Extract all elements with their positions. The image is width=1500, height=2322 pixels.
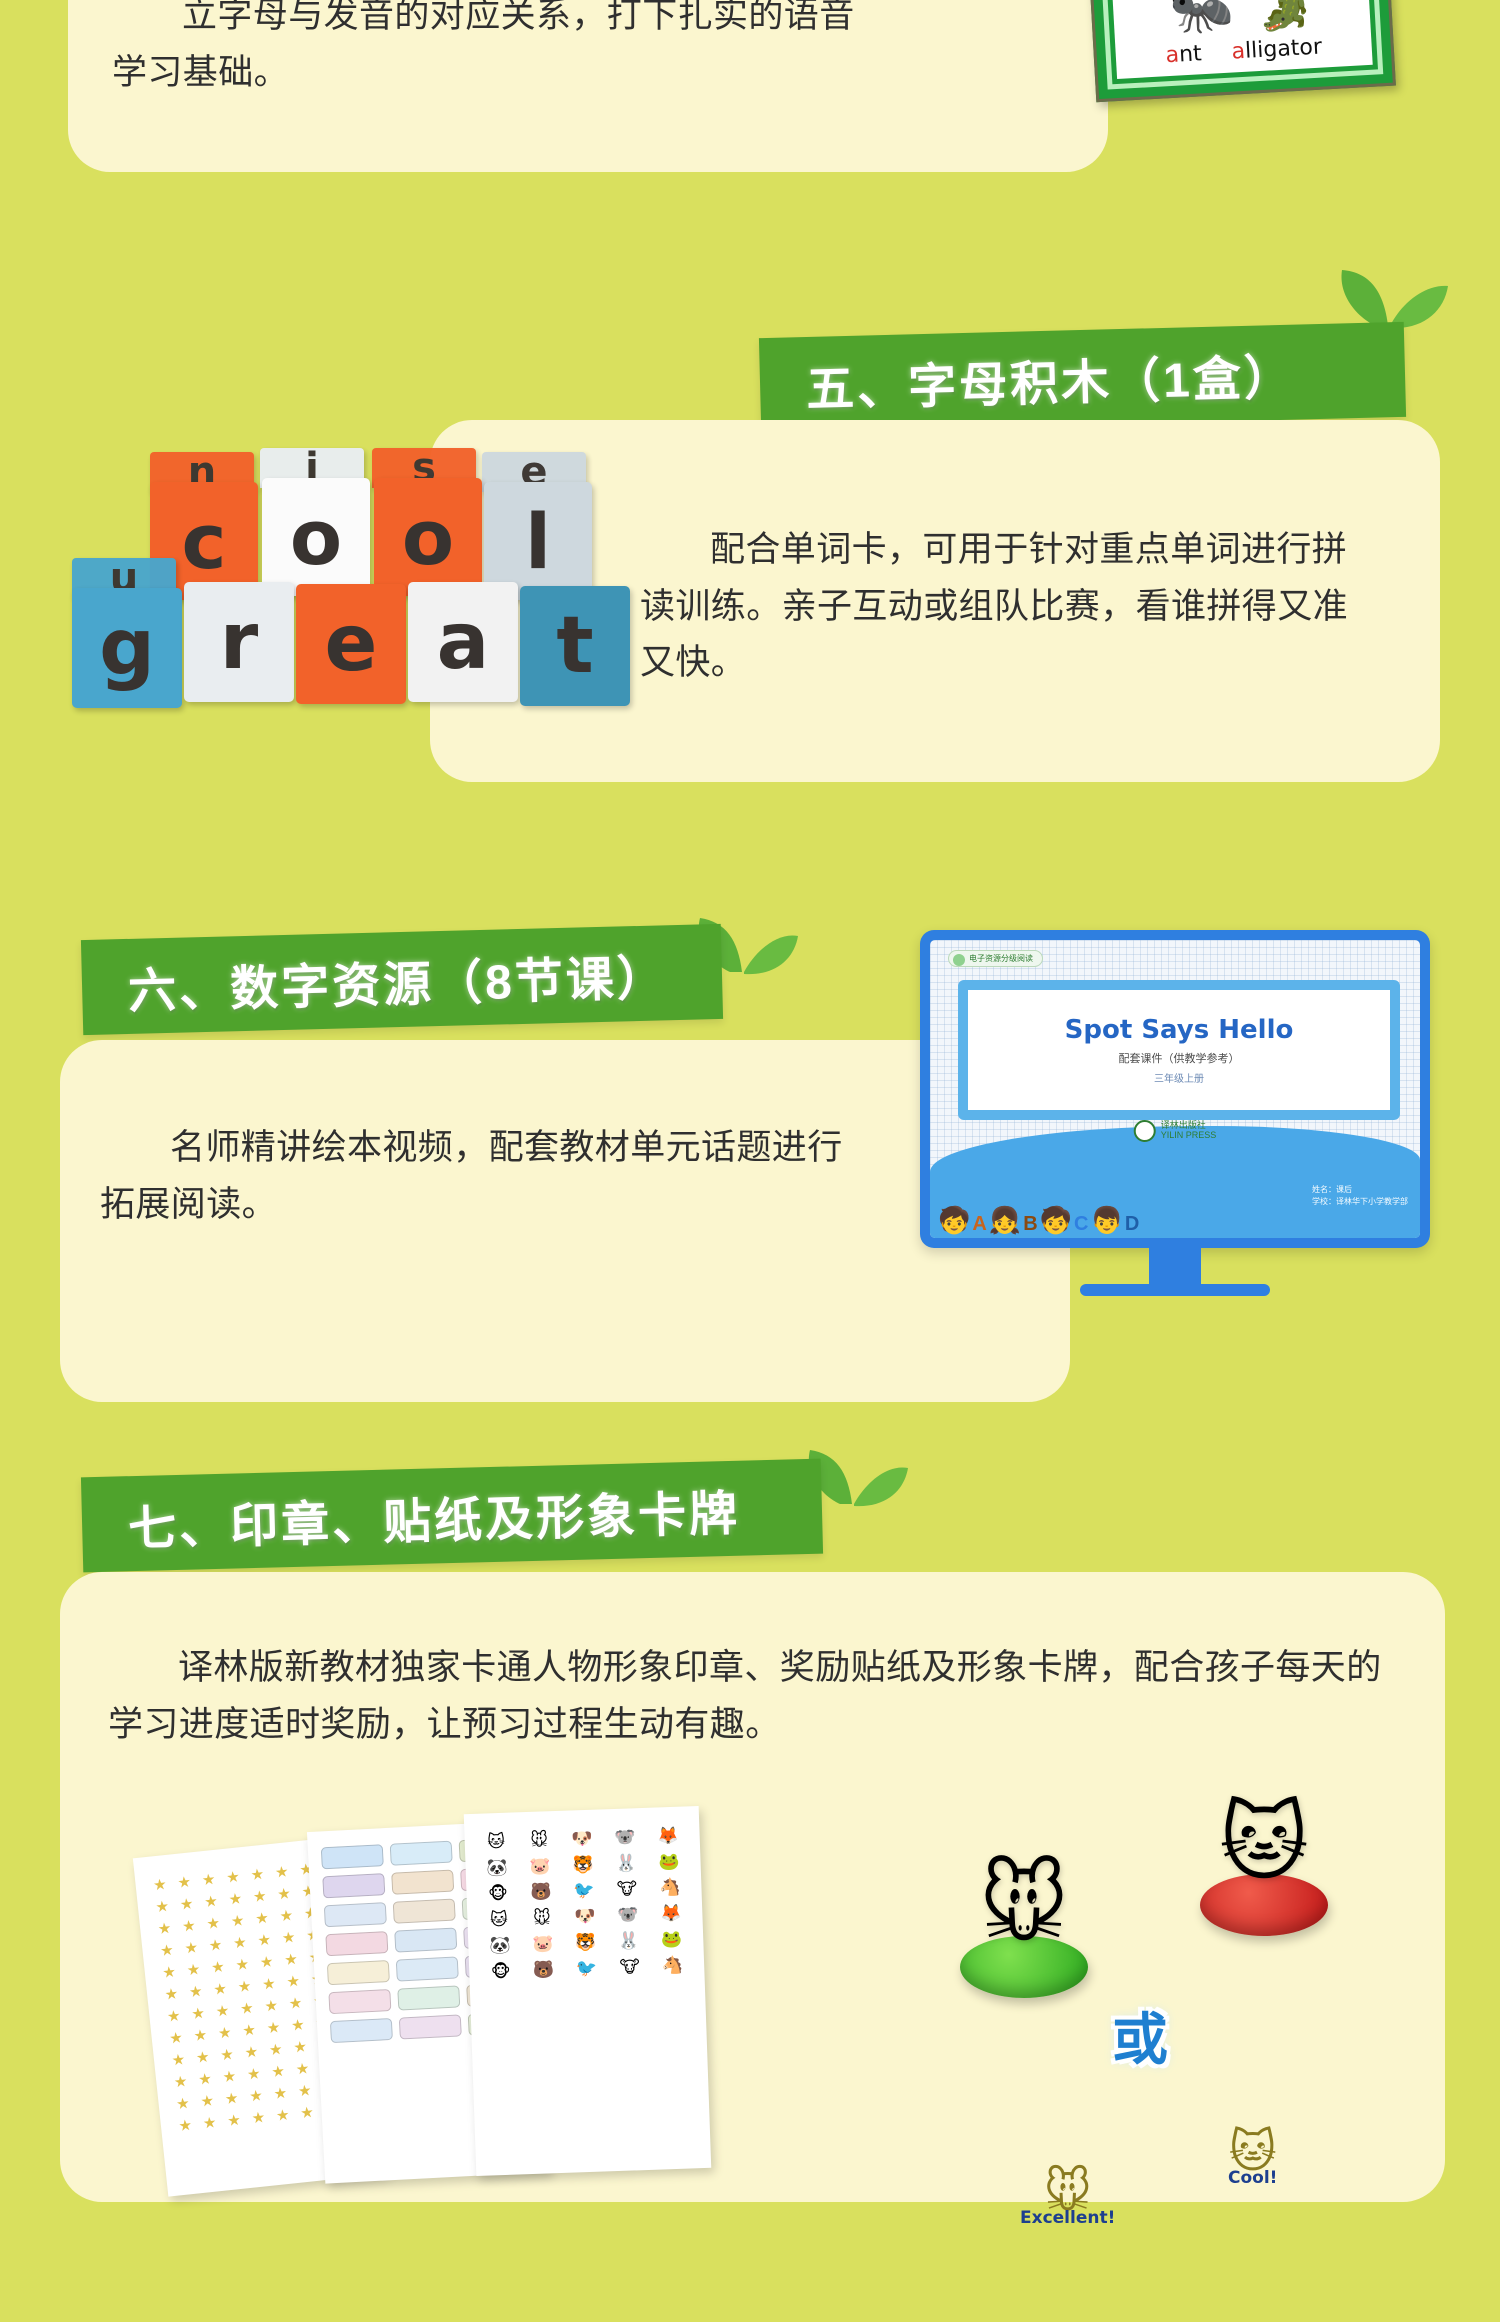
slide-title: Spot Says Hello [1065, 1015, 1294, 1045]
phrase-label-sticker [398, 2014, 461, 2039]
star-sticker: ★ [218, 2068, 240, 2085]
star-sticker: ★ [214, 2025, 236, 2042]
character-sticker: 🐭 [519, 1831, 559, 1849]
publisher-name-en: YILIN PRESS [1161, 1131, 1217, 1141]
star-sticker: ★ [187, 2005, 209, 2022]
star-sticker: ★ [200, 1893, 222, 1910]
product-detail-page: 立字母与发音的对应关系，打下扎实的语音学习基础。 🐜 🐊 ant alligat… [0, 0, 1500, 2322]
slide-title-card: Spot Says Hello 配套课件（供教学参考） 三年级上册 [958, 980, 1400, 1120]
character-sticker: 🐮 [607, 1880, 647, 1898]
section-seven-banner: 七、印章、贴纸及形象卡牌 [81, 1459, 823, 1573]
resource-badge: 电子资源分级阅读 [948, 950, 1043, 967]
star-sticker: ★ [238, 2022, 260, 2039]
phonics-illustrations: 🐜 🐊 [1166, 0, 1314, 35]
phrase-label-sticker [394, 1927, 457, 1952]
star-sticker: ★ [256, 1954, 278, 1971]
letter-block-a: a [408, 582, 518, 702]
star-sticker: ★ [154, 1920, 176, 1937]
kids-illustration: 🧒 A 👧 B 🧒 C 👦 D [938, 1205, 1139, 1236]
letter-block-o1: o [262, 478, 370, 596]
character-sticker: 🐨 [608, 1906, 648, 1924]
star-sticker: ★ [236, 2000, 258, 2017]
phonics-word-alligator: alligator [1231, 35, 1323, 65]
publisher-block: 译林出版社 YILIN PRESS [1134, 1120, 1217, 1142]
phrase-label-sticker [320, 1844, 383, 1869]
star-sticker: ★ [275, 1908, 297, 1925]
star-sticker: ★ [287, 2017, 309, 2034]
letter-blocks-photo: n i s e c o o l u g r e a t [72, 448, 632, 708]
kid-icon-3: 🧒 [1040, 1205, 1072, 1236]
slide-grade: 三年级上册 [1154, 1070, 1204, 1085]
phrase-label-sticker [322, 1873, 385, 1898]
star-sticker: ★ [178, 1918, 200, 1935]
star-sticker: ★ [185, 1984, 207, 2001]
section-six-banner: 六、数字资源（8节课） [81, 924, 723, 1035]
character-sticker: 🐦 [567, 1959, 607, 1977]
character-sticker: 🐮 [610, 1958, 650, 1976]
section-five-banner: 五、字母积木（1盒） [759, 322, 1406, 433]
star-sticker: ★ [223, 2112, 245, 2129]
slide-meta-line-1: 姓名：课后 [1312, 1184, 1408, 1196]
character-sticker: 🐸 [652, 1930, 692, 1948]
star-sticker: ★ [173, 1874, 195, 1891]
character-sticker: 🐱 [479, 1910, 519, 1928]
star-sticker: ★ [270, 2085, 292, 2102]
section-five-heading: 五、字母积木（1盒） [759, 337, 1295, 421]
character-sticker: 🦊 [648, 1826, 688, 1844]
cat-stamp-print: 🐱 Cool! [1228, 2128, 1277, 2188]
star-sticker: ★ [149, 1877, 171, 1894]
leaf-decoration-five [1298, 226, 1448, 336]
character-sticker: 🐸 [649, 1852, 689, 1870]
star-sticker: ★ [294, 2083, 316, 2100]
star-sticker: ★ [170, 2074, 192, 2091]
phrase-label-sticker [395, 1956, 458, 1981]
star-sticker: ★ [194, 2071, 216, 2088]
cat-standee-figure: 🐱 [1200, 1800, 1328, 1886]
section-six-heading: 六、数字资源（8节课） [81, 938, 668, 1023]
phonics-flashcard: 🐜 🐊 ant alligator [1084, 0, 1396, 102]
star-sticker: ★ [229, 1935, 251, 1952]
character-sticker: 🐵 [481, 1962, 521, 1980]
mouse-standee-figure: 🐭 [960, 1862, 1088, 1948]
star-sticker: ★ [205, 1937, 227, 1954]
star-sticker: ★ [216, 2047, 238, 2064]
star-sticker: ★ [161, 1986, 183, 2003]
character-sticker: 🐶 [565, 1907, 605, 1925]
star-sticker: ★ [271, 1864, 293, 1881]
star-sticker: ★ [156, 1942, 178, 1959]
phrase-label-sticker [389, 1841, 452, 1866]
animal-grid: 🐱🐭🐶🐨🦊🐼🐷🐯🐰🐸🐵🐻🐦🐮🐴🐱🐭🐶🐨🦊🐼🐷🐯🐰🐸🐵🐻🐦🐮🐴 [464, 1806, 705, 2001]
character-sticker: 🐯 [563, 1855, 603, 1873]
star-sticker: ★ [180, 1940, 202, 1957]
star-sticker: ★ [272, 2107, 294, 2124]
star-sticker: ★ [234, 1978, 256, 1995]
star-sticker: ★ [289, 2039, 311, 2056]
star-sticker: ★ [280, 1951, 302, 1968]
character-sticker: 🐦 [564, 1881, 604, 1899]
star-sticker: ★ [260, 1998, 282, 2015]
character-sticker: 🐴 [650, 1878, 690, 1896]
star-sticker: ★ [282, 1973, 304, 1990]
character-sticker: 🐵 [478, 1884, 518, 1902]
star-sticker: ★ [212, 2003, 234, 2020]
star-sticker: ★ [199, 2115, 221, 2132]
star-sticker: ★ [265, 2041, 287, 2058]
star-sticker: ★ [241, 2044, 263, 2061]
section-six-paragraph: 名师精讲绘本视频，配套教材单元话题进行拓展阅读。 [100, 1120, 860, 1233]
star-sticker: ★ [285, 1995, 307, 2012]
letter-block-t: t [520, 586, 630, 706]
monitor-frame: 电子资源分级阅读 Spot Says Hello 配套课件（供教学参考） 三年级… [920, 930, 1430, 1248]
phrase-label-sticker [392, 1899, 455, 1924]
section-seven-paragraph: 译林版新教材独家卡通人物形象印章、奖励贴纸及形象卡牌，配合孩子每天的学习进度适时… [108, 1640, 1398, 1753]
mouse-stamp-caption: Excellent! [1020, 2208, 1115, 2228]
star-sticker: ★ [224, 1891, 246, 1908]
phonics-card-face: 🐜 🐊 ant alligator [1107, 0, 1372, 79]
phonics-card-border: 🐜 🐊 ant alligator [1097, 0, 1384, 90]
character-sticker-sheet: 🐱🐭🐶🐨🦊🐼🐷🐯🐰🐸🐵🐻🐦🐮🐴🐱🐭🐶🐨🦊🐼🐷🐯🐰🐸🐵🐻🐦🐮🐴 [464, 1806, 711, 2176]
character-sticker: 🐱 [476, 1832, 516, 1850]
character-sticker: 🐴 [653, 1956, 693, 1974]
slide-meta-line-2: 学校：译林华下小学教学部 [1312, 1196, 1408, 1208]
section-five-paragraph: 配合单词卡，可用于针对重点单词进行拼读训练。亲子互动或组队比赛，看谁拼得又准又快… [640, 522, 1380, 692]
letter-block-e: e [296, 584, 406, 704]
cat-standee: 🐱 [1200, 1800, 1328, 1936]
monitor-stand-neck [1149, 1248, 1201, 1284]
star-sticker: ★ [221, 2090, 243, 2107]
star-sticker: ★ [263, 2020, 285, 2037]
star-sticker: ★ [247, 2110, 269, 2127]
kid-icon-4: 👦 [1090, 1205, 1122, 1236]
star-sticker: ★ [253, 1932, 275, 1949]
star-sticker: ★ [202, 1915, 224, 1932]
star-sticker: ★ [151, 1899, 173, 1916]
phrase-label-sticker [397, 1985, 460, 2010]
character-sticker: 🐼 [480, 1936, 520, 1954]
star-sticker: ★ [183, 1962, 205, 1979]
letter-b-icon: B [1023, 1213, 1037, 1236]
character-sticker: 🐰 [609, 1932, 649, 1950]
sticker-sheets-photo: ★★★★★★★★★★★★★★★★★★★★★★★★★★★★★★★★★★★★★★★★… [150, 1810, 790, 2230]
star-sticker: ★ [267, 2063, 289, 2080]
star-sticker: ★ [163, 2008, 185, 2025]
cat-stamp-caption: Cool! [1228, 2168, 1277, 2188]
star-sticker: ★ [174, 2117, 196, 2134]
star-sticker: ★ [249, 1888, 271, 1905]
phrase-label-sticker [323, 1902, 386, 1927]
character-sticker: 🐼 [477, 1858, 517, 1876]
star-sticker: ★ [207, 1959, 229, 1976]
character-sticker: 🐷 [523, 1935, 563, 1953]
slide-meta: 姓名：课后 学校：译林华下小学教学部 [1312, 1184, 1408, 1208]
star-sticker: ★ [247, 1866, 269, 1883]
top-paragraph: 立字母与发音的对应关系，打下扎实的语音学习基础。 [112, 0, 872, 101]
monitor-screen: 电子资源分级阅读 Spot Says Hello 配套课件（供教学参考） 三年级… [930, 940, 1420, 1238]
star-sticker: ★ [243, 2066, 265, 2083]
star-sticker: ★ [296, 2105, 318, 2122]
phrase-label-sticker [329, 2018, 392, 2043]
character-sticker: 🐯 [566, 1933, 606, 1951]
star-sticker: ★ [190, 2027, 212, 2044]
mouse-stamp-print: 🐭 Excellent! [1020, 2168, 1115, 2228]
alligator-icon: 🐊 [1255, 0, 1315, 30]
star-sticker: ★ [209, 1981, 231, 1998]
letter-block-o2: o [374, 478, 482, 596]
letter-c-icon: C [1074, 1213, 1088, 1236]
star-sticker: ★ [198, 1872, 220, 1889]
character-sticker: 🐰 [606, 1854, 646, 1872]
or-label: 或 [1112, 1995, 1168, 2076]
star-sticker: ★ [165, 2030, 187, 2047]
ant-icon: 🐜 [1168, 0, 1236, 35]
star-sticker: ★ [273, 1886, 295, 1903]
letter-a-icon: A [972, 1213, 986, 1236]
star-sticker: ★ [278, 1930, 300, 1947]
star-sticker: ★ [167, 2052, 189, 2069]
star-sticker: ★ [176, 1896, 198, 1913]
letter-block-g: g [72, 588, 182, 708]
phrase-label-sticker [391, 1870, 454, 1895]
star-sticker: ★ [227, 1913, 249, 1930]
kid-icon-2: 👧 [989, 1205, 1021, 1236]
monitor-stand-base [1080, 1284, 1270, 1296]
character-sticker: 🦊 [651, 1904, 691, 1922]
letter-d-icon: D [1125, 1213, 1139, 1236]
star-sticker: ★ [245, 2088, 267, 2105]
character-sticker: 🐻 [524, 1961, 564, 1979]
star-sticker: ★ [251, 1910, 273, 1927]
star-sticker: ★ [158, 1964, 180, 1981]
star-sticker: ★ [292, 2061, 314, 2078]
star-sticker: ★ [192, 2049, 214, 2066]
character-sticker: 🐨 [605, 1828, 645, 1846]
section-seven-heading: 七、印章、贴纸及形象卡牌 [81, 1473, 741, 1560]
letter-block-r: r [184, 582, 294, 702]
character-sticker: 🐷 [520, 1857, 560, 1875]
publisher-logo-icon [1134, 1120, 1156, 1142]
character-sticker: 🐭 [522, 1909, 562, 1927]
star-sticker: ★ [258, 1976, 280, 1993]
star-sticker: ★ [222, 1869, 244, 1886]
slide-subtitle: 配套课件（供教学参考） [1119, 1050, 1240, 1066]
publisher-names: 译林出版社 YILIN PRESS [1161, 1121, 1217, 1141]
phonics-words: ant alligator [1165, 35, 1323, 69]
kid-icon-1: 🧒 [938, 1205, 970, 1236]
character-sticker: 🐻 [521, 1883, 561, 1901]
phrase-label-sticker [325, 1931, 388, 1956]
phrase-label-sticker [326, 1960, 389, 1985]
mouse-standee: 🐭 [960, 1862, 1088, 1998]
star-sticker: ★ [196, 2093, 218, 2110]
phrase-label-sticker [328, 1989, 391, 2014]
star-sticker: ★ [231, 1957, 253, 1974]
star-sticker: ★ [172, 2095, 194, 2112]
character-sticker: 🐶 [562, 1829, 602, 1847]
phonics-word-ant: ant [1165, 41, 1202, 68]
digital-resource-monitor: 电子资源分级阅读 Spot Says Hello 配套课件（供教学参考） 三年级… [920, 930, 1430, 1290]
